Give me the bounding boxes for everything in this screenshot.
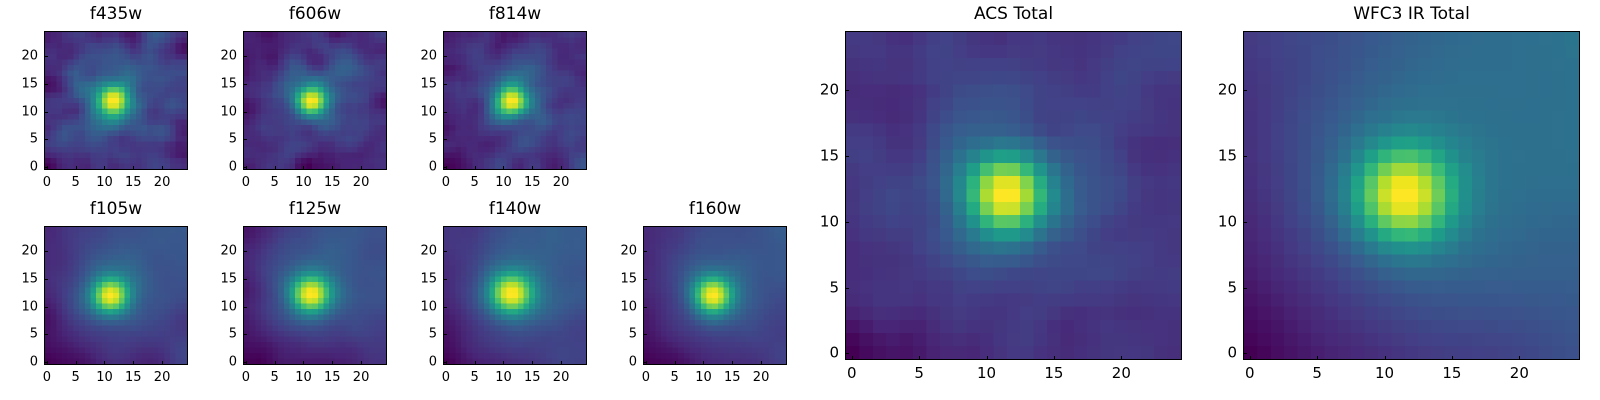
xtick-label-wfc3-ir-total-5: 5: [1312, 366, 1322, 381]
xtick-label-wfc3-ir-total-10: 10: [1375, 366, 1394, 381]
ytick-mark: [1243, 288, 1247, 289]
xtick-label-wfc3-ir-total-20: 20: [1510, 366, 1529, 381]
ytick-label-wfc3-ir-total-5: 5: [1227, 280, 1237, 295]
xtick-mark: [1385, 356, 1386, 360]
ytick-label-wfc3-ir-total-20: 20: [1218, 83, 1237, 98]
panel-wfc3-ir-total: WFC3 IR Total0510152005101520: [0, 0, 1600, 400]
ytick-label-wfc3-ir-total-0: 0: [1227, 346, 1237, 361]
ytick-mark: [1243, 222, 1247, 223]
xtick-label-wfc3-ir-total-15: 15: [1442, 366, 1461, 381]
ytick-label-wfc3-ir-total-10: 10: [1218, 214, 1237, 229]
ytick-mark: [1243, 156, 1247, 157]
panel-title-wfc3-ir-total: WFC3 IR Total: [1243, 4, 1580, 24]
figure-canvas: f435w0510152005101520f606w05101520051015…: [0, 0, 1600, 400]
xtick-mark: [1452, 356, 1453, 360]
ytick-mark: [1243, 353, 1247, 354]
heatmap-wfc3-ir-total: [1243, 31, 1580, 360]
xtick-mark: [1317, 356, 1318, 360]
xtick-mark: [1250, 356, 1251, 360]
ytick-label-wfc3-ir-total-15: 15: [1218, 149, 1237, 164]
xtick-mark: [1519, 356, 1520, 360]
xtick-label-wfc3-ir-total-0: 0: [1245, 366, 1255, 381]
ytick-mark: [1243, 90, 1247, 91]
